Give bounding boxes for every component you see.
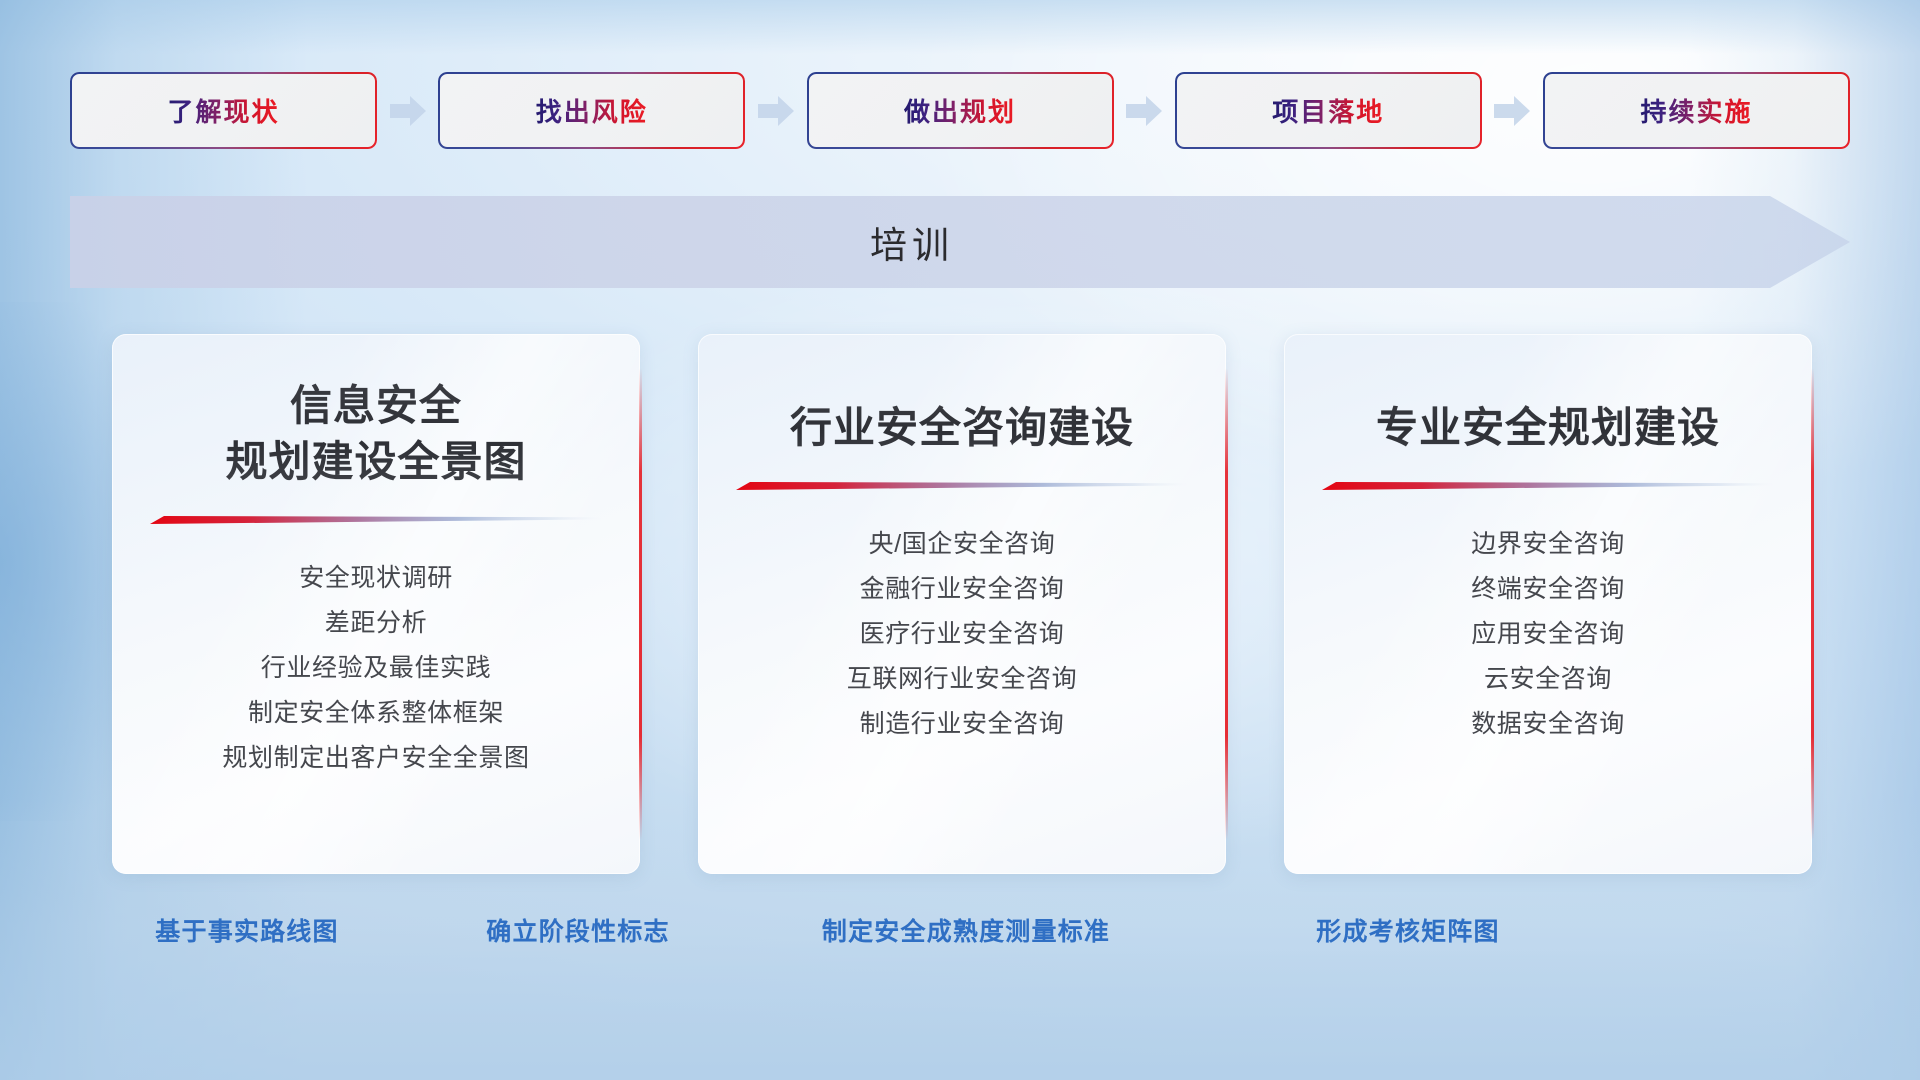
caption-row: 基于事实路线图 确立阶段性标志 制定安全成熟度测量标准 形成考核矩阵图 — [0, 912, 1920, 960]
training-band-label: 培训 — [22, 196, 1802, 288]
card-title-line: 信息安全 — [290, 382, 462, 429]
process-step-5[interactable]: 持续实施 — [1543, 72, 1850, 149]
list-item: 规划制定出客户安全全景图 — [112, 736, 640, 781]
card-title: 行业安全咨询建设 — [790, 400, 1134, 456]
list-item: 央/国企安全咨询 — [698, 522, 1226, 567]
list-item: 应用安全咨询 — [1284, 612, 1812, 657]
process-step-label: 持续实施 — [1640, 92, 1752, 129]
card-item-list: 边界安全咨询 终端安全咨询 应用安全咨询 云安全咨询 数据安全咨询 — [1284, 522, 1812, 747]
process-step-label: 了解现状 — [167, 92, 279, 129]
card-information-security-blueprint[interactable]: 信息安全 规划建设全景图 — [112, 334, 640, 874]
list-item: 行业经验及最佳实践 — [112, 646, 640, 691]
arrow-right-icon — [1124, 94, 1164, 128]
caption-3: 制定安全成熟度测量标准 — [822, 912, 1110, 948]
caption-1: 基于事实路线图 — [155, 912, 338, 948]
card-divider — [150, 512, 602, 526]
list-item: 云安全咨询 — [1284, 657, 1812, 702]
slide-stage: 了解现状 找出风险 做出规划 项目落地 持续实施 — [0, 0, 1920, 1080]
list-item: 终端安全咨询 — [1284, 567, 1812, 612]
card-divider — [736, 478, 1188, 492]
list-item: 差距分析 — [112, 601, 640, 646]
card-professional-security-planning[interactable]: 专业安全规划建设 — [1284, 334, 1812, 874]
process-step-2[interactable]: 找出风险 — [438, 72, 745, 149]
arrow-right-icon — [1492, 94, 1532, 128]
card-title: 专业安全规划建设 — [1376, 400, 1720, 456]
card-title: 信息安全 规划建设全景图 — [225, 378, 526, 490]
list-item: 医疗行业安全咨询 — [698, 612, 1226, 657]
list-item: 互联网行业安全咨询 — [698, 657, 1226, 702]
list-item: 金融行业安全咨询 — [698, 567, 1226, 612]
card-title-line: 规划建设全景图 — [225, 438, 526, 485]
card-title-line: 专业安全规划建设 — [1376, 404, 1720, 451]
list-item: 数据安全咨询 — [1284, 702, 1812, 747]
card-title-line: 行业安全咨询建设 — [790, 404, 1134, 451]
list-item: 制造行业安全咨询 — [698, 702, 1226, 747]
process-steps: 了解现状 找出风险 做出规划 项目落地 持续实施 — [70, 72, 1850, 149]
card-divider — [1322, 478, 1774, 492]
list-item: 安全现状调研 — [112, 556, 640, 601]
process-step-label: 找出风险 — [536, 92, 648, 129]
card-item-list: 央/国企安全咨询 金融行业安全咨询 医疗行业安全咨询 互联网行业安全咨询 制造行… — [698, 522, 1226, 747]
process-step-label: 项目落地 — [1272, 92, 1384, 129]
process-step-3[interactable]: 做出规划 — [807, 72, 1114, 149]
training-band: 培训 — [70, 196, 1850, 288]
process-step-1[interactable]: 了解现状 — [70, 72, 377, 149]
list-item: 制定安全体系整体框架 — [112, 691, 640, 736]
list-item: 边界安全咨询 — [1284, 522, 1812, 567]
caption-2: 确立阶段性标志 — [486, 912, 669, 948]
card-industry-security-consulting[interactable]: 行业安全咨询建设 — [698, 334, 1226, 874]
card-item-list: 安全现状调研 差距分析 行业经验及最佳实践 制定安全体系整体框架 规划制定出客户… — [112, 556, 640, 781]
arrow-right-icon — [756, 94, 796, 128]
process-step-4[interactable]: 项目落地 — [1175, 72, 1482, 149]
arrow-right-icon — [388, 94, 428, 128]
card-row: 信息安全 规划建设全景图 — [112, 334, 1812, 874]
process-step-label: 做出规划 — [904, 92, 1016, 129]
caption-4: 形成考核矩阵图 — [1316, 912, 1499, 948]
